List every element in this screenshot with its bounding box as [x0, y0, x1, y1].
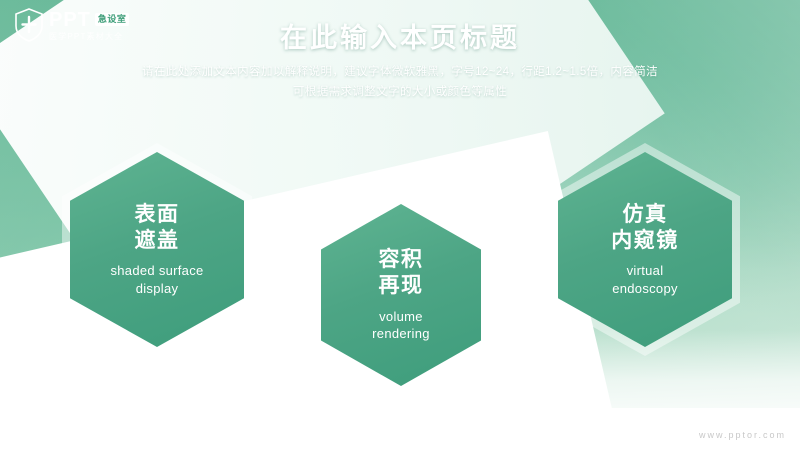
- slide-canvas: PPT 急设室 医学PPT素材大全 在此输入本页标题 请在此处添加文本内容加以解…: [0, 0, 800, 450]
- hexagon-card-3-subtitle-line-2: endoscopy: [612, 280, 678, 298]
- hexagon-card-1-subtitle-line-1: shaded surface: [110, 262, 203, 280]
- hexagon-card-1-title-line-1: 表面: [135, 202, 180, 228]
- hexagon-card-3-title-line-2: 内窥镜: [611, 228, 679, 254]
- logo-tagline: 医学PPT素材大全: [49, 33, 129, 41]
- brand-logo: PPT 急设室 医学PPT素材大全: [14, 8, 129, 42]
- hexagon-card-2-title-line-1: 容积: [379, 247, 424, 273]
- footer-watermark: www.pptor.com: [699, 430, 786, 440]
- hexagon-card-2-subtitle-line-2: rendering: [372, 325, 430, 343]
- hexagon-card-3-title: 仿真 内窥镜: [611, 202, 679, 255]
- hexagon-card-2-subtitle-line-1: volume: [372, 308, 430, 326]
- bottom-white-band: [0, 408, 800, 450]
- logo-brand-text: PPT: [49, 10, 91, 30]
- hexagon-card-1-subtitle: shaded surface display: [110, 262, 203, 297]
- hexagon-card-3-subtitle: virtual endoscopy: [612, 262, 678, 297]
- hexagon-card-3-subtitle-line-1: virtual: [612, 262, 678, 280]
- page-subtitle: 请在此处添加文本内容加以解释说明，建议字体微软雅黑，字号12~24，行距1.2~…: [0, 62, 800, 102]
- hexagon-card-2-title-line-2: 再现: [379, 273, 424, 299]
- shield-icon: [14, 8, 44, 42]
- hexagon-card-2-subtitle: volume rendering: [372, 308, 430, 343]
- hexagon-card-1-title: 表面 遮盖: [135, 202, 180, 255]
- hexagon-card-2-title: 容积 再现: [379, 247, 424, 300]
- subtitle-line-1: 请在此处添加文本内容加以解释说明，建议字体微软雅黑，字号12~24，行距1.2~…: [0, 62, 800, 82]
- hexagon-card-1-title-line-2: 遮盖: [135, 228, 180, 254]
- hexagon-card-3-title-line-1: 仿真: [611, 202, 679, 228]
- logo-badge: 急设室: [95, 13, 130, 26]
- hexagon-card-1-subtitle-line-2: display: [110, 280, 203, 298]
- logo-text: PPT 急设室 医学PPT素材大全: [49, 10, 129, 41]
- subtitle-line-2: 可根据需求调整文字的大小或颜色等属性: [0, 82, 800, 102]
